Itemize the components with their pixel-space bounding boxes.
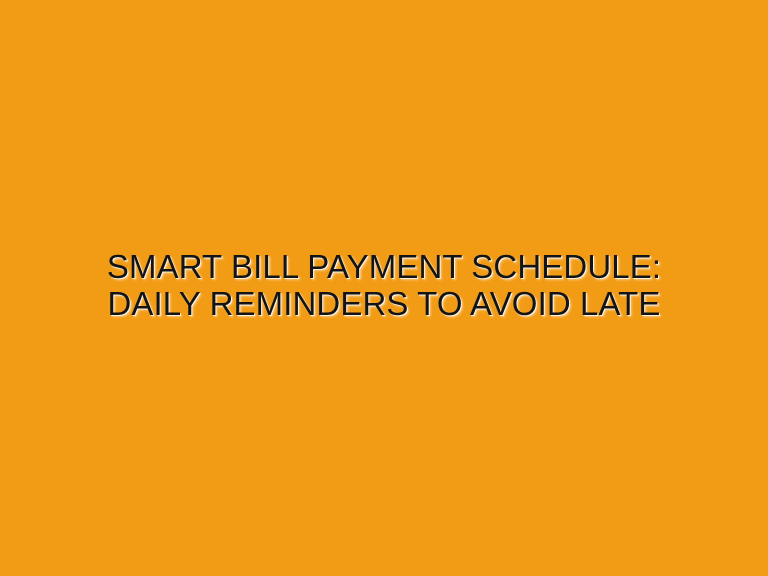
page-title: SMART BILL PAYMENT SCHEDULE: DAILY REMIN… — [64, 248, 704, 322]
title-block: SMART BILL PAYMENT SCHEDULE: DAILY REMIN… — [64, 248, 704, 322]
featured-image-card: SMART BILL PAYMENT SCHEDULE: DAILY REMIN… — [0, 0, 768, 576]
